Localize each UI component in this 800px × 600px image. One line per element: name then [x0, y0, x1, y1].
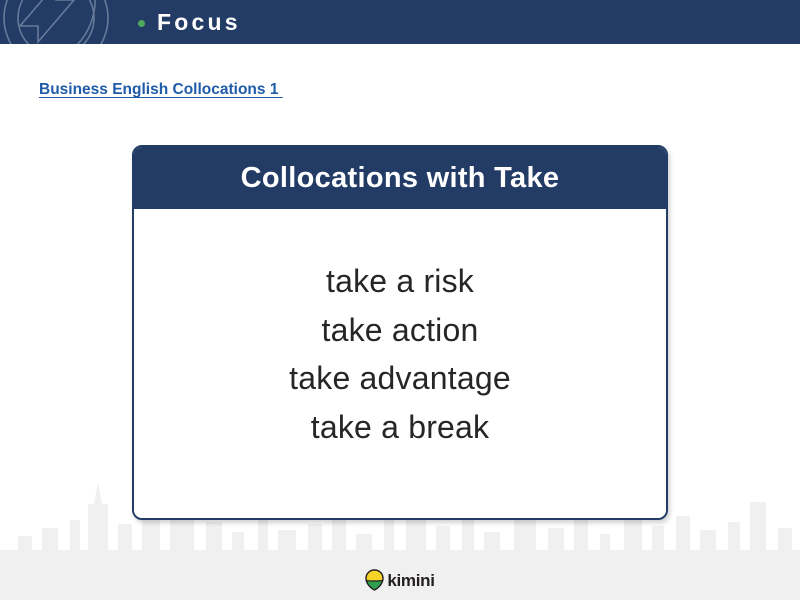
collocations-card: Collocations with Take take a risk take … [132, 145, 668, 520]
bullet-dot-icon [138, 20, 145, 27]
slide-header-bar: Focus [0, 0, 800, 44]
footer-logo: kimini [0, 569, 800, 591]
card-title: Collocations with Take [241, 164, 560, 193]
kimini-wordmark: kimini [387, 572, 434, 589]
slide-root: Focus Business English Collocations 1 Co… [0, 0, 800, 600]
lesson-title-link[interactable]: Business English Collocations 1 [39, 81, 283, 99]
list-item: take advantage [289, 354, 511, 403]
list-item: take a risk [326, 257, 474, 306]
card-header: Collocations with Take [134, 147, 666, 209]
header-title-group: Focus [138, 0, 241, 44]
list-item: take action [322, 306, 479, 355]
page-title: Focus [157, 11, 241, 34]
list-item: take a break [311, 403, 490, 452]
brand-swoosh-icon [0, 0, 124, 44]
kimini-balloon-icon [365, 569, 384, 591]
card-body: take a risk take action take advantage t… [134, 209, 666, 518]
